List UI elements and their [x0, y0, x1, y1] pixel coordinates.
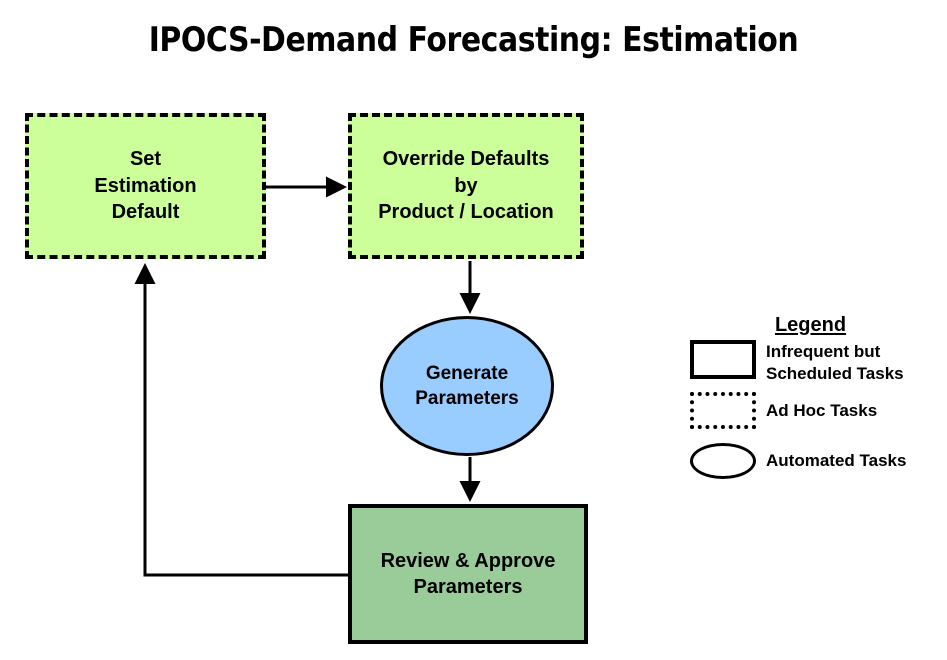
node-label: Generate Parameters	[411, 361, 523, 411]
node-label: Review & Approve Parameters	[377, 548, 560, 601]
node-override-defaults[interactable]: Override Defaults by Product / Location	[348, 113, 584, 259]
ellipse-icon	[690, 443, 756, 479]
node-review-approve[interactable]: Review & Approve Parameters	[348, 504, 588, 644]
node-set-estimation-default[interactable]: Set Estimation Default	[25, 113, 266, 259]
node-label: Set Estimation Default	[90, 146, 200, 225]
legend-item-adhoc: Ad Hoc Tasks	[688, 392, 933, 444]
legend-item-label: Automated Tasks	[766, 450, 906, 472]
dotted-rectangle-icon	[690, 392, 756, 429]
node-label: Override Defaults by Product / Location	[374, 146, 558, 225]
page-title: IPOCS-Demand Forecasting: Estimation	[57, 20, 890, 60]
legend-item-label: Infrequent but Scheduled Tasks	[766, 341, 904, 385]
solid-rectangle-icon	[690, 340, 756, 379]
legend-item-automated: Automated Tasks	[688, 443, 933, 493]
diagram-canvas: IPOCS-Demand Forecasting: Estimation Set…	[0, 0, 947, 660]
legend: Legend Infrequent but Scheduled Tasks Ad…	[688, 314, 933, 489]
node-generate-parameters[interactable]: Generate Parameters	[380, 316, 554, 456]
legend-title: Legend	[688, 314, 933, 337]
connector-review-to-set	[145, 266, 348, 575]
legend-item-label: Ad Hoc Tasks	[766, 400, 877, 422]
